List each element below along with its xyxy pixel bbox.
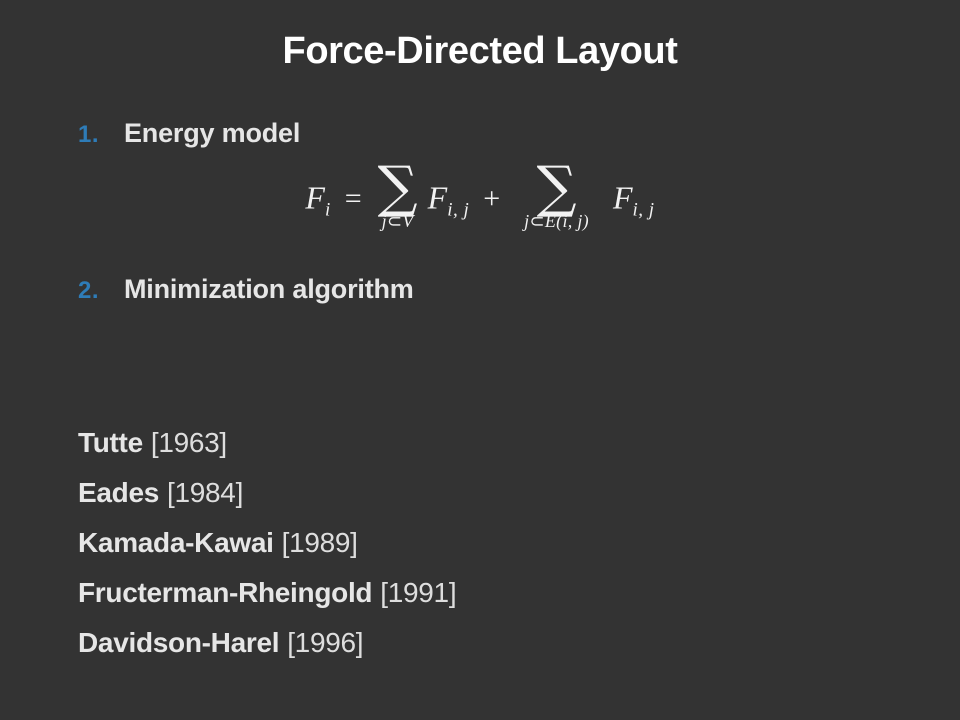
citation-row: Kamada-Kawai[1989] xyxy=(78,518,456,568)
citation-year: [1991] xyxy=(372,577,456,608)
subset-icon: ⊂ xyxy=(387,211,402,231)
citation-year: [1963] xyxy=(143,427,227,458)
citation-row: Tutte[1963] xyxy=(78,418,456,468)
citation-row: Fructerman-Rheingold[1991] xyxy=(78,568,456,618)
citation-row: Davidson-Harel[1996] xyxy=(78,618,456,668)
sigma-icon: ∑ xyxy=(524,165,589,211)
equation-lhs-subscript: i xyxy=(325,199,331,220)
list-marker: 2. xyxy=(78,277,124,305)
citation-row: Eades[1984] xyxy=(78,468,456,518)
slide-canvas: Force-Directed Layout 1. Energy model 2.… xyxy=(0,0,960,720)
equation-lhs-variable: F xyxy=(305,179,325,215)
citation-year: [1984] xyxy=(159,477,243,508)
citation-name: Eades xyxy=(78,477,159,508)
plus-sign: + xyxy=(477,182,506,215)
subset-icon: ⊂ xyxy=(529,211,544,231)
list-marker: 1. xyxy=(78,121,124,149)
list-item-minimization-algorithm: 2. Minimization algorithm xyxy=(78,274,898,314)
term1-variable: F xyxy=(428,179,448,215)
citation-name: Fructerman-Rheingold xyxy=(78,577,372,608)
limit-set: E(i, j) xyxy=(545,211,589,231)
sigma-icon: ∑ xyxy=(378,165,418,211)
list-item-label: Energy model xyxy=(124,118,300,149)
force-equation: Fi = ∑ j⊂V Fi, j + ∑ j⊂E(i, j) Fi, j xyxy=(0,168,960,234)
equals-sign: = xyxy=(339,182,368,215)
summation-limit-edges: j⊂E(i, j) xyxy=(524,211,589,231)
term2-subscript: i, j xyxy=(633,199,655,220)
citation-year: [1996] xyxy=(279,627,363,658)
citation-list: Tutte[1963] Eades[1984] Kamada-Kawai[198… xyxy=(78,418,456,668)
citation-name: Davidson-Harel xyxy=(78,627,279,658)
limit-set: V xyxy=(402,211,413,231)
list-item-label: Minimization algorithm xyxy=(124,274,414,305)
term2-variable: F xyxy=(613,179,633,215)
citation-name: Tutte xyxy=(78,427,143,458)
citation-year: [1989] xyxy=(274,527,358,558)
citation-name: Kamada-Kawai xyxy=(78,527,274,558)
term1-subscript: i, j xyxy=(447,199,469,220)
summation-term-edges: ∑ j⊂E(i, j) xyxy=(524,165,589,231)
list-item-energy-model: 1. Energy model xyxy=(78,118,898,158)
page-title: Force-Directed Layout xyxy=(0,28,960,74)
summation-term-vertices: ∑ j⊂V xyxy=(378,165,418,231)
summation-limit-vertices: j⊂V xyxy=(378,211,418,231)
